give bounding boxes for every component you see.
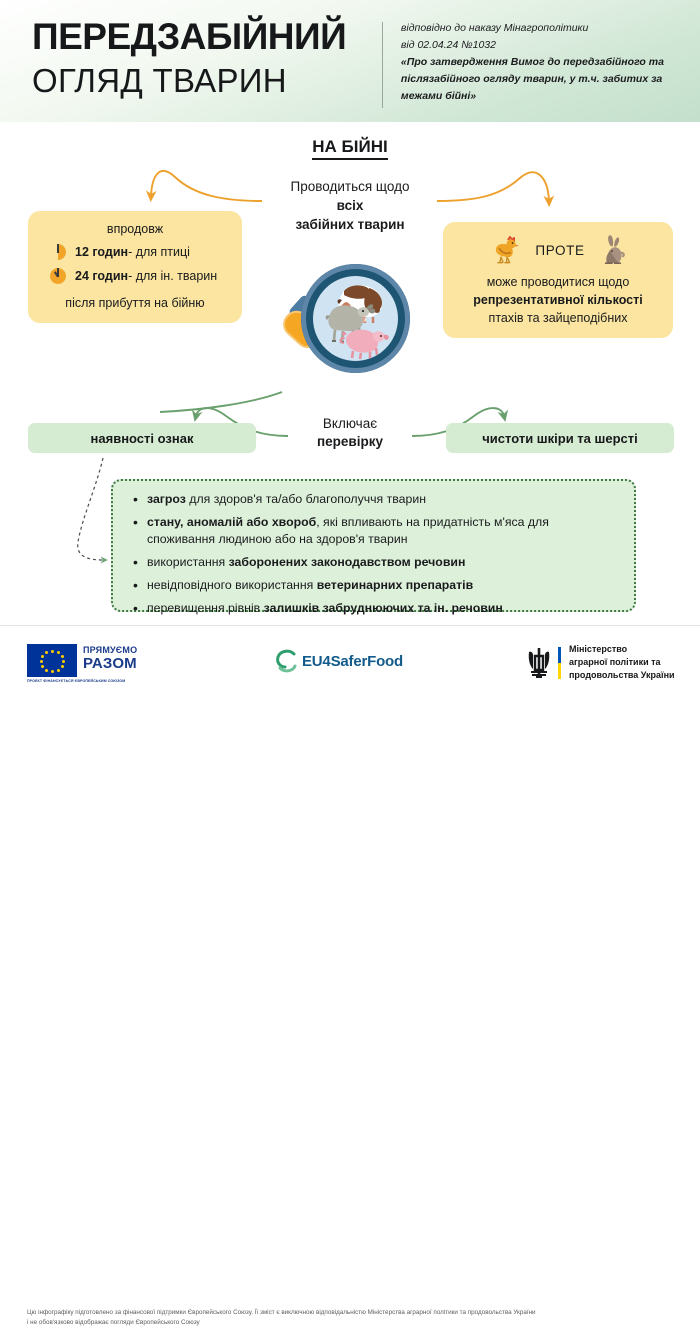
includes-label-line1: Включає (288, 415, 412, 433)
list-item: перевищення рівнів залишків забруднюючих… (131, 600, 618, 617)
timing-hours-other: 24 годин (75, 269, 128, 283)
list-item: загроз для здоров'я та/або благополуччя … (131, 491, 618, 508)
header-content: ПЕРЕДЗАБІЙНИЙ ОГЛЯД ТВАРИН відповідно до… (32, 18, 672, 108)
exception-badge: ПРОТЕ (535, 243, 584, 258)
bullet-0-bold: загроз (147, 492, 186, 506)
signs-detail-box: загроз для здоров'я та/або благополуччя … (111, 479, 636, 612)
title-block: ПЕРЕДЗАБІЙНИЙ ОГЛЯД ТВАРИН (32, 18, 382, 100)
section-heading-text: НА БІЙНІ (312, 137, 387, 160)
bullet-3-pre: невідповідного використання (147, 578, 317, 592)
header-divider (382, 22, 383, 108)
ministry-logo: Міністерство аграрної політики та продов… (525, 643, 675, 682)
page-title-line2: ОГЛЯД ТВАРИН (32, 61, 382, 101)
center-caption-line3: забійних тварин (248, 215, 452, 234)
legal-line-2: від 02.04.24 №1032 (401, 37, 672, 54)
center-caption-line2: всіх (248, 196, 452, 215)
eu-logo-words: ПРЯМУЄМО РАЗОМ (83, 644, 137, 671)
timing-card-footnote: після прибуття на бійню (28, 296, 242, 310)
exception-card-text: може проводитися щодо репрезентативної к… (443, 273, 673, 327)
ministry-line2: аграрної політики та (569, 656, 675, 669)
bullet-3-bold: ветеринарних препаратів (317, 578, 473, 592)
timing-hours-poultry: 12 годин (75, 245, 128, 259)
check-pill-cleanliness: чистоти шкіри та шерсті (446, 423, 674, 453)
exception-text-bold: репрезентативної кількості (453, 291, 663, 309)
center-caption: Проводиться щодо всіх забійних тварин (248, 177, 452, 234)
timing-desc-other: - для ін. тварин (128, 269, 217, 283)
eu4saferfood-swirl-icon (274, 648, 300, 674)
timing-row-other: 24 годин - для ін. тварин (50, 268, 242, 284)
eu-logo-subtitle: ПРОЕКТ ФІНАНСУЄТЬСЯ ЄВРОПЕЙСЬКИМ СОЮЗОМ (27, 679, 125, 683)
bullet-0-rest: для здоров'я та/або благополуччя тварин (186, 492, 426, 506)
clock-half-icon (50, 244, 66, 260)
footer-disclaimer: Цю інфографіку підготовлено за фінансово… (27, 1308, 677, 1328)
eu-flag-icon (27, 644, 77, 677)
list-item: стану, аномалій або хвороб, які впливают… (131, 514, 618, 548)
list-item: використання заборонених законодавством … (131, 554, 618, 571)
bullet-1-bold: стану, аномалій або хвороб (147, 515, 316, 529)
clock-full-icon (50, 268, 66, 284)
signs-list: загроз для здоров'я та/або благополуччя … (131, 491, 618, 617)
infographic-page: ПЕРЕДЗАБІЙНИЙ ОГЛЯД ТВАРИН відповідно до… (0, 0, 700, 728)
eu-logo-word2: РАЗОМ (83, 656, 137, 671)
page-title-line1: ПЕРЕДЗАБІЙНИЙ (32, 18, 382, 57)
exception-text-line3: птахів та зайцеподібних (453, 309, 663, 327)
disclaimer-line2: і не обов'язково відображає погляди Євро… (27, 1318, 677, 1328)
timing-card-heading: впродовж (28, 222, 242, 236)
eu-together-logo: ПРЯМУЄМО РАЗОМ (27, 644, 137, 677)
bullet-2-bold: заборонених законодавством речовин (229, 555, 466, 569)
eu4saferfood-logo: EU4SaferFood (274, 648, 403, 674)
footer-logos: ПРЯМУЄМО РАЗОМ ПРОЕКТ ФІНАНСУЄТЬСЯ ЄВРОП… (0, 638, 700, 684)
pig-icon (340, 330, 388, 359)
trident-icon (525, 646, 553, 680)
bullet-2-pre: використання (147, 555, 229, 569)
eu4saferfood-text: EU4SaferFood (302, 653, 403, 670)
ministry-name: Міністерство аграрної політики та продов… (569, 643, 675, 682)
ministry-line3: продовольства України (569, 669, 675, 682)
header-banner: ПЕРЕДЗАБІЙНИЙ ОГЛЯД ТВАРИН відповідно до… (0, 0, 700, 122)
list-item: невідповідного використання ветеринарних… (131, 577, 618, 594)
magnifier-ring (301, 264, 410, 373)
check-pill-signs: наявності ознак (28, 423, 256, 453)
disclaimer-line1: Цю інфографіку підготовлено за фінансово… (27, 1308, 677, 1318)
timing-card: впродовж 12 годин - для птиці 24 годин -… (28, 211, 242, 323)
legal-reference: відповідно до наказу Мінагрополітики від… (401, 18, 672, 105)
bullet-4-bold: залишків забруднюючих та ін. речовин (264, 601, 503, 615)
magnifier-lens (313, 276, 398, 361)
ministry-line1: Міністерство (569, 643, 675, 656)
exception-card-icons: ПРОТЕ (443, 231, 673, 269)
ministry-flag-bar (558, 647, 561, 679)
timing-row-poultry: 12 годин - для птиці (50, 244, 242, 260)
includes-label-line2: перевірку (288, 433, 412, 451)
legal-quote: «Про затвердження Вимог до передзабійног… (401, 54, 672, 105)
exception-text-line1: може проводитися щодо (453, 273, 663, 291)
center-caption-line1: Проводиться щодо (248, 177, 452, 196)
magnifier-illustration (280, 264, 410, 394)
chicken-icon (488, 233, 522, 267)
rabbit-icon (598, 233, 628, 267)
section-heading: НА БІЙНІ (0, 137, 700, 157)
livestock-group-icon (313, 276, 398, 361)
footer: ПРЯМУЄМО РАЗОМ ПРОЕКТ ФІНАНСУЄТЬСЯ ЄВРОП… (0, 625, 700, 728)
timing-desc-poultry: - для птиці (128, 245, 190, 259)
includes-label: Включає перевірку (288, 415, 412, 452)
exception-card: ПРОТЕ може проводитися щодо репрезентати… (443, 222, 673, 338)
bullet-4-pre: перевищення рівнів (147, 601, 264, 615)
legal-line-1: відповідно до наказу Мінагрополітики (401, 20, 672, 37)
check-pill-signs-label: наявності ознак (91, 431, 194, 446)
check-pill-cleanliness-label: чистоти шкіри та шерсті (482, 431, 637, 446)
eu-logo-word1: ПРЯМУЄМО (83, 646, 137, 655)
